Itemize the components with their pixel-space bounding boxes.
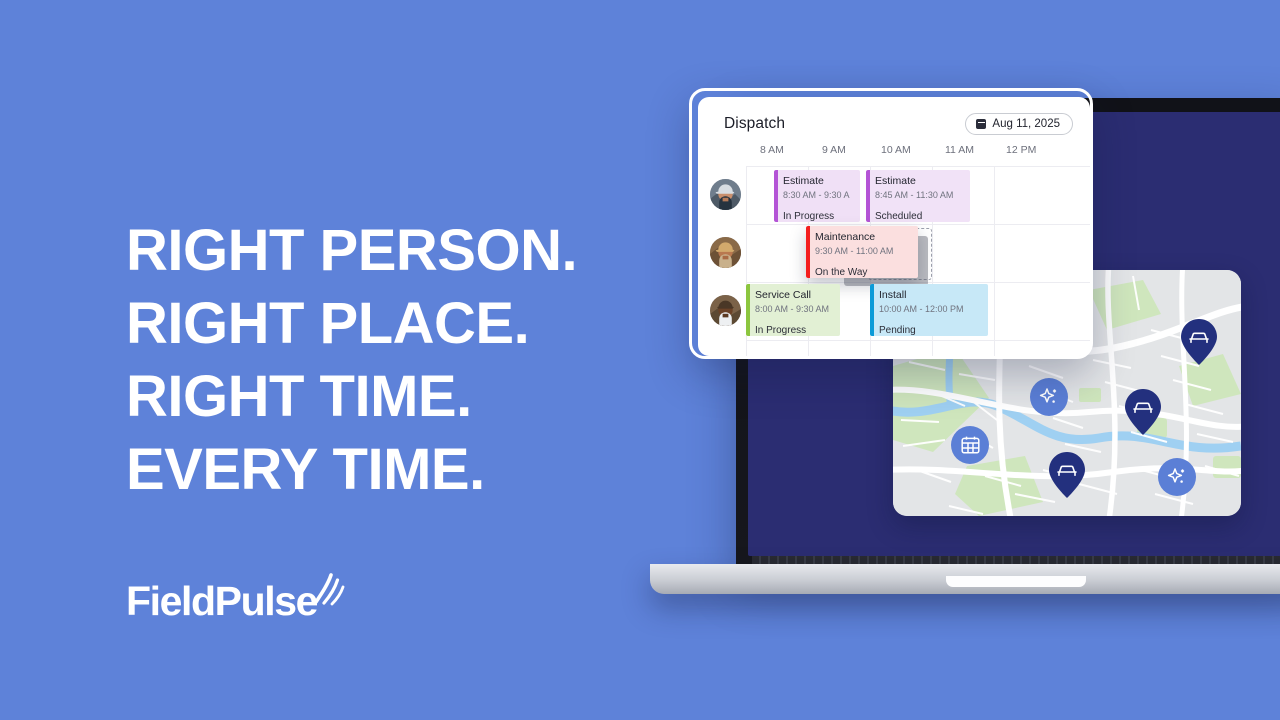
timeline-rowline [746,224,1090,225]
job-card-install[interactable]: Install 10:00 AM - 12:00 PM Pending [870,284,988,336]
vehicle-pin-icon[interactable] [1180,318,1218,366]
job-time: 8:00 AM - 9:30 AM [755,303,840,316]
headline-block: RIGHT PERSON. RIGHT PLACE. RIGHT TIME. E… [126,214,686,506]
hour-label: 9 AM [822,144,846,156]
fieldpulse-logo: FieldPulse [126,578,345,624]
hour-label: 8 AM [760,144,784,156]
dispatch-panel-frame: Dispatch Aug 11, 2025 8 AM 9 AM 10 AM 11… [689,88,1093,359]
job-accent-bar [746,284,750,336]
calendar-icon [976,119,986,129]
hero-banner: RIGHT PERSON. RIGHT PLACE. RIGHT TIME. E… [0,0,1280,720]
sparkle-icon[interactable] [1030,378,1068,416]
vehicle-pin-icon[interactable] [1048,451,1086,499]
logo-wordmark: FieldPulse [126,578,317,624]
hour-label: 10 AM [881,144,911,156]
job-title: Service Call [755,289,840,302]
timeline-gridline [994,166,995,356]
job-status: On the Way [815,266,918,278]
hour-label: 11 AM [945,144,974,156]
job-card-service-call[interactable]: Service Call 8:00 AM - 9:30 AM In Progre… [746,284,840,336]
sparkle-icon[interactable] [1158,458,1196,496]
job-status: Scheduled [875,210,970,222]
job-accent-bar [866,170,870,222]
technician-avatar-2[interactable] [710,237,741,268]
headline-line-3: RIGHT TIME. [126,360,686,433]
technician-avatar-3[interactable] [710,295,741,326]
job-time: 8:30 AM - 9:30 A [783,189,860,202]
job-accent-bar [806,226,810,278]
page-title: Dispatch [724,115,785,133]
dispatch-panel: Dispatch Aug 11, 2025 8 AM 9 AM 10 AM 11… [698,97,1090,356]
dispatch-timeline[interactable]: 8 AM 9 AM 10 AM 11 AM 12 PM [698,144,1090,356]
job-card-estimate-1[interactable]: Estimate 8:30 AM - 9:30 A In Progress [774,170,860,222]
job-accent-bar [870,284,874,336]
job-status: Pending [879,324,988,336]
job-title: Maintenance [815,231,918,244]
job-title: Estimate [875,175,970,188]
job-accent-bar [774,170,778,222]
laptop-trackpad-notch [946,576,1086,587]
job-time: 10:00 AM - 12:00 PM [879,303,988,316]
headline-line-1: RIGHT PERSON. [126,214,686,287]
job-title: Estimate [783,175,860,188]
timeline-rowline [746,340,1090,341]
job-time: 8:45 AM - 11:30 AM [875,189,970,202]
timeline-hour-ruler: 8 AM 9 AM 10 AM 11 AM 12 PM [698,144,1090,162]
job-title: Install [879,289,988,302]
technician-avatar-1[interactable] [710,179,741,210]
headline-line-2: RIGHT PLACE. [126,287,686,360]
calendar-grid-icon[interactable] [951,426,989,464]
dispatch-header: Dispatch Aug 11, 2025 [698,97,1090,135]
timeline-rowline [746,166,1090,167]
job-card-maintenance[interactable]: Maintenance 9:30 AM - 11:00 AM On the Wa… [806,226,918,278]
job-status: In Progress [783,210,860,222]
date-label: Aug 11, 2025 [992,118,1060,130]
headline-line-4: EVERY TIME. [126,433,686,506]
job-status: In Progress [755,324,840,336]
hour-label: 12 PM [1006,144,1036,156]
pulse-signal-icon [311,572,345,613]
job-card-estimate-2[interactable]: Estimate 8:45 AM - 11:30 AM Scheduled [866,170,970,222]
date-picker-button[interactable]: Aug 11, 2025 [965,113,1073,135]
vehicle-pin-icon[interactable] [1124,388,1162,436]
job-time: 9:30 AM - 11:00 AM [815,245,918,258]
